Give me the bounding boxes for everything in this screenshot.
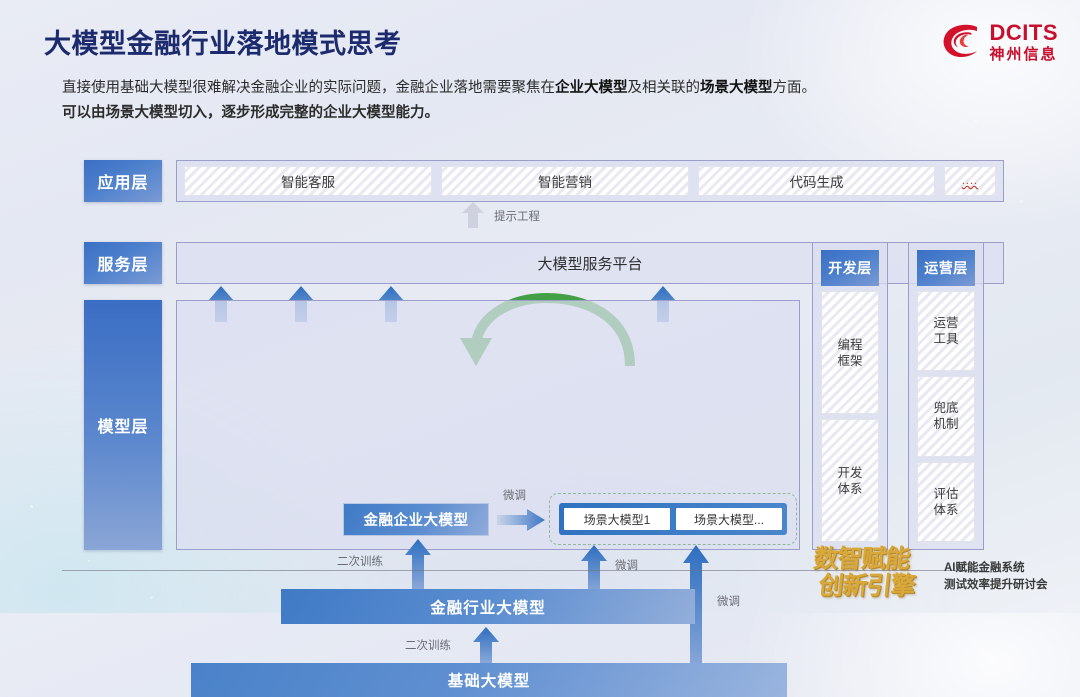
subtitle-line-2: 可以由场景大模型切入，逐步形成完整的企业大模型能力。 xyxy=(62,101,1022,126)
app-box-marketing[interactable]: 智能营销 xyxy=(441,166,689,196)
ops-cell-evaluation-system[interactable]: 评估 体系 xyxy=(917,462,975,542)
retrain-label-2: 二次训练 xyxy=(405,637,451,653)
logo-en-label: DCITS xyxy=(990,22,1059,44)
enterprise-model-box[interactable]: 金融企业大模型 xyxy=(343,503,489,536)
dev-layer-column: 开发层 编程 框架 开发 体系 xyxy=(812,242,888,550)
ops-cell-fallback-mechanism[interactable]: 兜底 机制 xyxy=(917,376,975,456)
dev-layer-title: 开发层 xyxy=(821,250,879,286)
layer-tag-application: 应用层 xyxy=(84,160,162,202)
service-platform-label: 大模型服务平台 xyxy=(537,253,642,274)
retrain-up-arrow-2-icon xyxy=(473,627,499,663)
subtitle-seg-e: 方面。 xyxy=(773,80,817,96)
finetune-label-1: 微调 xyxy=(503,487,526,503)
event-watermark: 数智赋能 创新引擎 xyxy=(812,546,942,608)
subtitle-seg-a: 直接使用基础大模型很难解决金融企业的实际问题，金融企业落地需要聚焦在 xyxy=(62,80,555,96)
dev-cell-dev-system[interactable]: 开发 体系 xyxy=(821,419,879,542)
event-title-line-2: 测试效率提升研讨会 xyxy=(944,577,1048,594)
brand-logo: DCITS 神州信息 xyxy=(941,22,1059,62)
subtitle-seg-c: 及相关联的 xyxy=(628,80,701,96)
finetune-right-arrow-icon xyxy=(497,509,545,531)
event-title-line-1: AI赋能金融系统 xyxy=(944,560,1048,577)
app-box-code-generation[interactable]: 代码生成 xyxy=(698,166,935,196)
retrain-label-1: 二次训练 xyxy=(337,553,383,569)
watermark-line-2-text: 创新引擎 xyxy=(817,573,942,600)
page-title: 大模型金融行业落地模式思考 xyxy=(44,22,402,61)
layer-tag-model: 模型层 xyxy=(84,300,162,550)
sparkle-speck xyxy=(150,596,153,599)
event-title: AI赋能金融系统 测试效率提升研讨会 xyxy=(944,560,1048,594)
app-box-more-label: .... xyxy=(962,175,978,187)
app-box-customer-service[interactable]: 智能客服 xyxy=(184,166,432,196)
retrain-up-arrow-1-icon xyxy=(405,539,431,589)
industry-model-box[interactable]: 金融行业大模型 xyxy=(281,589,695,624)
prompt-engineering-label: 提示工程 xyxy=(494,208,540,224)
architecture-diagram: 应用层 服务层 模型层 智能客服 智能营销 代码生成 .... 提示工程 大模型… xyxy=(0,140,1080,570)
subtitle-seg-d: 场景大模型 xyxy=(700,80,773,96)
scene-model-box-1[interactable]: 场景大模型1 xyxy=(564,508,670,530)
dcits-swoosh-icon xyxy=(941,22,983,62)
scene-models-group: 场景大模型1 场景大模型... xyxy=(549,493,797,545)
ops-layer-title: 运营层 xyxy=(917,250,975,286)
logo-text: DCITS 神州信息 xyxy=(990,22,1059,62)
base-model-box[interactable]: 基础大模型 xyxy=(191,663,787,697)
layer-tag-service: 服务层 xyxy=(84,242,162,284)
scene-models-container: 场景大模型1 场景大模型... xyxy=(559,503,787,535)
finetune-label-3: 微调 xyxy=(717,593,740,609)
ops-layer-column: 运营层 运营 工具 兜底 机制 评估 体系 xyxy=(908,242,984,550)
page-subtitle: 直接使用基础大模型很难解决金融企业的实际问题，金融企业落地需要聚焦在企业大模型及… xyxy=(62,76,1022,126)
subtitle-seg-b: 企业大模型 xyxy=(555,80,628,96)
application-layer-panel: 智能客服 智能营销 代码生成 .... xyxy=(176,160,1004,202)
logo-cn-label: 神州信息 xyxy=(990,47,1059,62)
finetune-up-arrow-2-icon xyxy=(581,545,607,593)
watermark-line-1: 数智赋能 创新引擎 xyxy=(809,546,945,600)
model-layer-panel: 金融企业大模型 微调 场景大模型1 场景大模型... 二次训练 微调 微调 xyxy=(176,300,800,550)
app-box-more[interactable]: .... xyxy=(944,166,996,196)
scene-model-box-2[interactable]: 场景大模型... xyxy=(676,508,782,530)
prompt-engineering-arrow-icon xyxy=(462,202,484,228)
ops-cell-operation-tools[interactable]: 运营 工具 xyxy=(917,291,975,371)
dev-cell-programming-framework[interactable]: 编程 框架 xyxy=(821,291,879,414)
watermark-line-1-text: 数智赋能 xyxy=(812,545,911,573)
